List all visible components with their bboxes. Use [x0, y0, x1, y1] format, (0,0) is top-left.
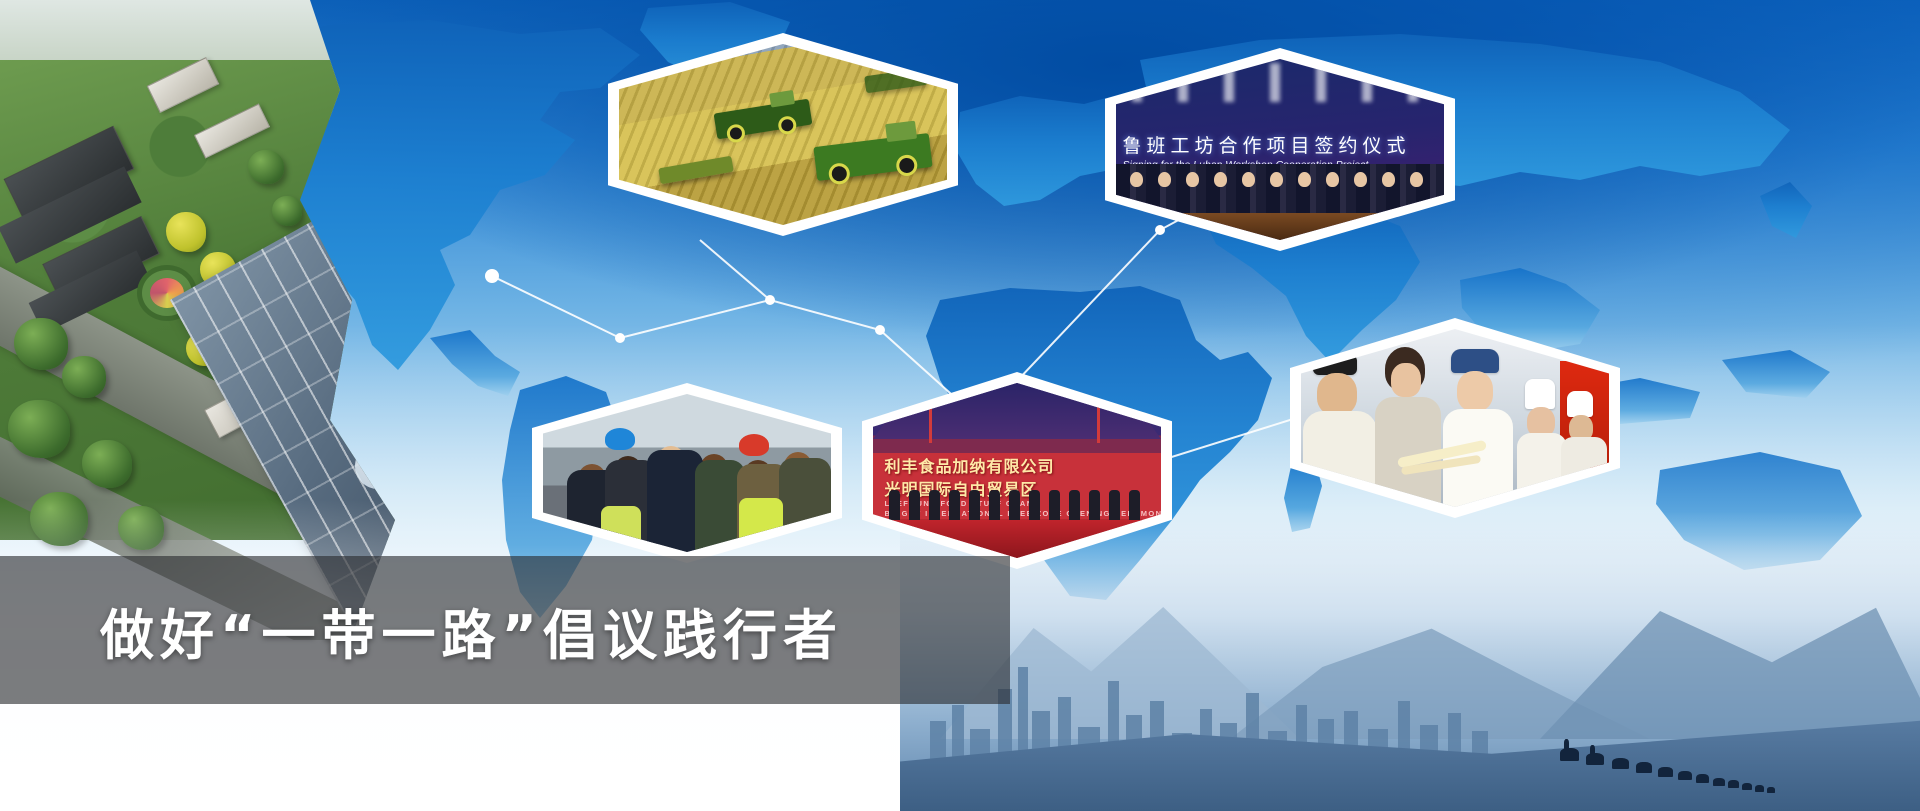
leefound-banner-zh-line1: 利丰食品加纳有限公司	[885, 453, 1055, 477]
luban-banner-zh: 鲁班工坊合作项目签约仪式	[1123, 131, 1444, 158]
page-title: 做好“一带一路”倡议践行者	[100, 591, 843, 670]
banner-stage: 鲁班工坊合作项目签约仪式 Signing for the Luban Works…	[0, 0, 1920, 811]
title-overlay-bar: 做好“一带一路”倡议践行者	[0, 556, 1010, 704]
